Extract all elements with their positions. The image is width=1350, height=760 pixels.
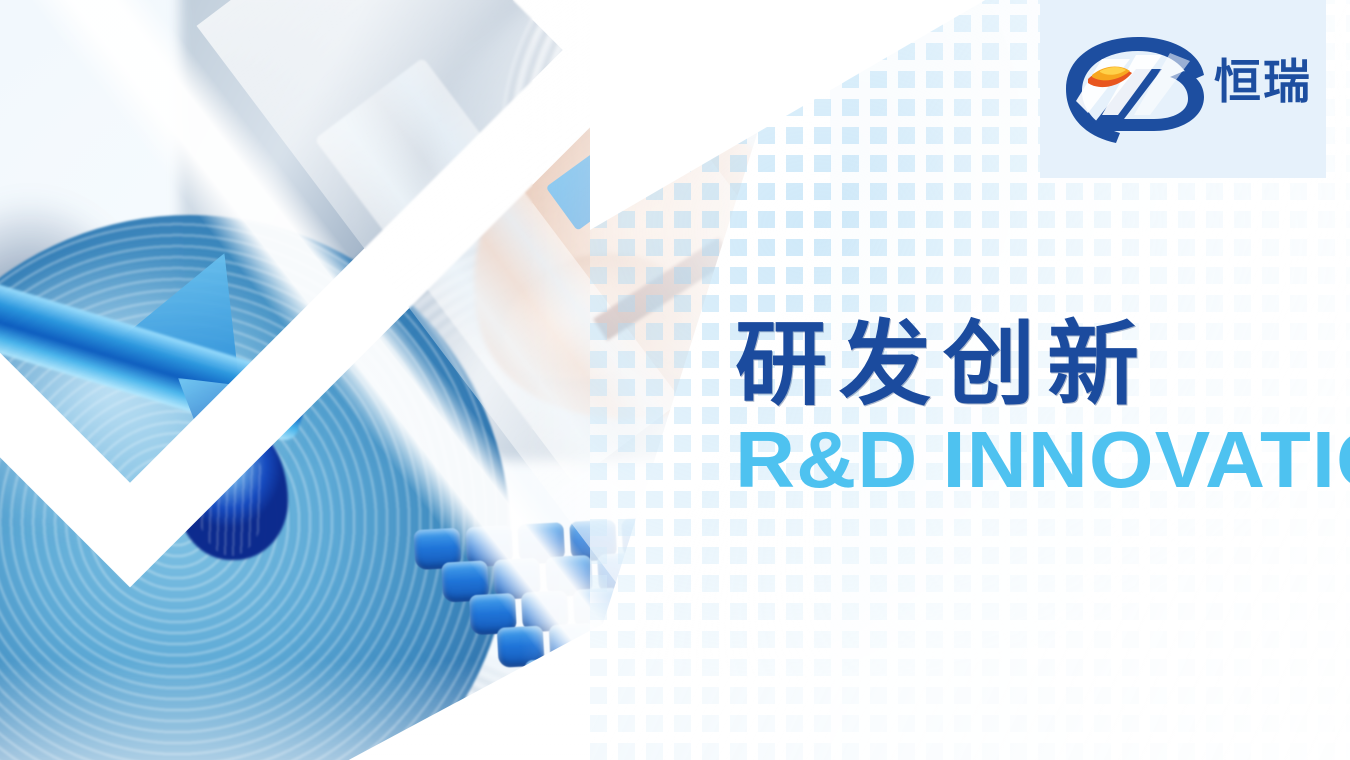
rd-innovation-banner: 恒瑞 研发创新 R&D INNOVATION: [0, 0, 1350, 760]
hengrui-logo-icon: [1058, 31, 1208, 147]
brand-logo-plate[interactable]: 恒瑞: [1040, 0, 1326, 178]
logo-wrapper: 恒瑞: [1058, 29, 1308, 149]
title-english: R&D INNOVATION: [735, 420, 1350, 500]
photo-bottom-fade: [0, 660, 830, 760]
brand-name-cn: 恒瑞: [1214, 59, 1312, 106]
title-chinese: 研发创新: [735, 318, 1350, 412]
lab-photo-collage: [0, 0, 830, 760]
headline-block: 研发创新 R&D INNOVATION: [735, 318, 1350, 500]
